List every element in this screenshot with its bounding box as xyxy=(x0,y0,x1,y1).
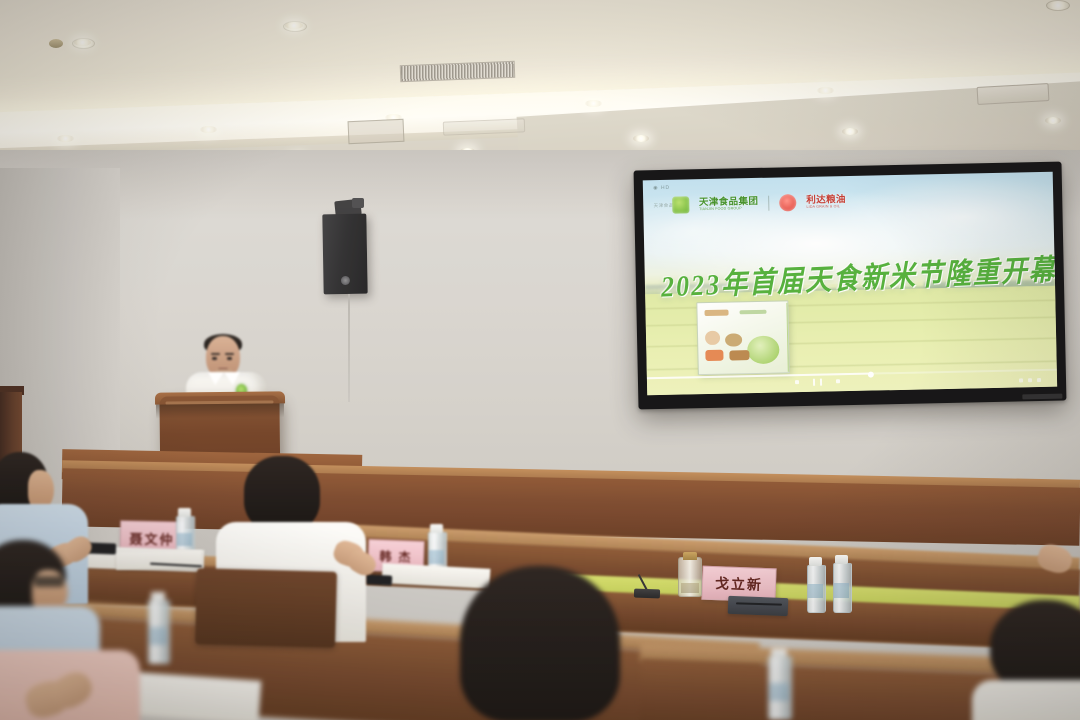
speaker-bracket-arm xyxy=(352,198,364,208)
glass-tea-tumbler xyxy=(678,557,702,597)
product-box-emblem xyxy=(747,335,780,364)
speaker-eye xyxy=(227,357,232,360)
wall-display[interactable]: ◉ HD 天津食品集团 天津食品集团 TIANJIN FOOD GROUP 利达… xyxy=(634,162,1067,410)
downlight-icon xyxy=(200,126,217,133)
water-bottle xyxy=(768,648,790,720)
speaker-port-icon xyxy=(341,276,350,285)
slide-logo-row: 天津食品集团 TIANJIN FOOD GROUP 利达粮油 LIDA GRAI… xyxy=(672,193,846,214)
slide-product-box xyxy=(697,300,791,375)
product-box-chip xyxy=(739,310,766,315)
water-bottle xyxy=(148,592,168,664)
speaker-brow xyxy=(211,353,220,355)
display-status-text: ◉ HD xyxy=(653,185,670,191)
speaker-cable xyxy=(348,294,350,402)
product-box-chip xyxy=(729,350,749,360)
notebook xyxy=(728,596,789,616)
next-icon[interactable] xyxy=(836,379,840,383)
downlight-icon xyxy=(74,39,91,46)
glasses-icon xyxy=(34,576,64,587)
pause-icon[interactable] xyxy=(813,378,822,385)
speaker-eye xyxy=(212,357,217,360)
product-box-chip xyxy=(706,349,724,361)
nameplate-text: 聂文仲 xyxy=(129,528,174,548)
podium-shading xyxy=(156,403,284,418)
video-controls-right[interactable] xyxy=(1019,378,1041,382)
paper-document xyxy=(119,671,262,720)
downlight-icon xyxy=(57,135,74,142)
downlight-icon xyxy=(1046,0,1070,11)
person-head xyxy=(460,566,620,720)
ceiling-access-hatch xyxy=(348,119,405,144)
display-brand-bar xyxy=(1022,394,1062,400)
display-screen[interactable]: ◉ HD 天津食品集团 天津食品集团 TIANJIN FOOD GROUP 利达… xyxy=(643,172,1057,396)
downlight-icon xyxy=(285,22,303,29)
speaker-brow xyxy=(225,353,234,355)
downlight-icon xyxy=(1045,117,1061,124)
audience-person-right xyxy=(980,600,1080,720)
volume-icon[interactable] xyxy=(1019,378,1023,382)
downlight-icon xyxy=(817,87,834,94)
person-head xyxy=(244,456,320,532)
water-bottle xyxy=(833,555,850,613)
downlight-icon xyxy=(842,128,858,135)
product-box-chip xyxy=(705,331,720,345)
product-box-chip xyxy=(725,333,741,346)
nameplate-text: 戈立新 xyxy=(715,573,764,595)
smoke-detector-icon xyxy=(49,39,63,48)
logo-sub-text: TIANJIN FOOD GROUP xyxy=(699,207,758,212)
fullscreen-icon[interactable] xyxy=(1037,378,1041,382)
logo-tianjin-food-group: 天津食品集团 TIANJIN FOOD GROUP xyxy=(699,197,759,212)
stop-icon[interactable] xyxy=(795,380,799,384)
paper-document xyxy=(116,550,202,569)
audience-person-center-foreground xyxy=(450,566,640,720)
logo-lida-grain-oil: 利达粮油 LIDA GRAIN & OIL xyxy=(806,195,846,210)
audience-person-bottom-left xyxy=(0,630,140,720)
logo-sub-text: LIDA GRAIN & OIL xyxy=(806,205,846,210)
leaf-mark-icon xyxy=(672,197,689,214)
smartphone xyxy=(366,574,392,585)
person-shirt xyxy=(972,680,1080,720)
logo-divider xyxy=(768,196,769,211)
round-mark-icon xyxy=(779,194,796,211)
product-box-chip xyxy=(705,309,729,316)
settings-icon[interactable] xyxy=(1028,378,1032,382)
downlight-icon xyxy=(585,100,602,107)
conference-room-photo: ◉ HD 天津食品集团 天津食品集团 TIANJIN FOOD GROUP 利达… xyxy=(0,0,1080,720)
wall-loudspeaker-icon xyxy=(322,214,367,295)
downlight-icon xyxy=(633,135,649,142)
water-bottle xyxy=(807,557,824,613)
chair-back xyxy=(195,568,337,648)
